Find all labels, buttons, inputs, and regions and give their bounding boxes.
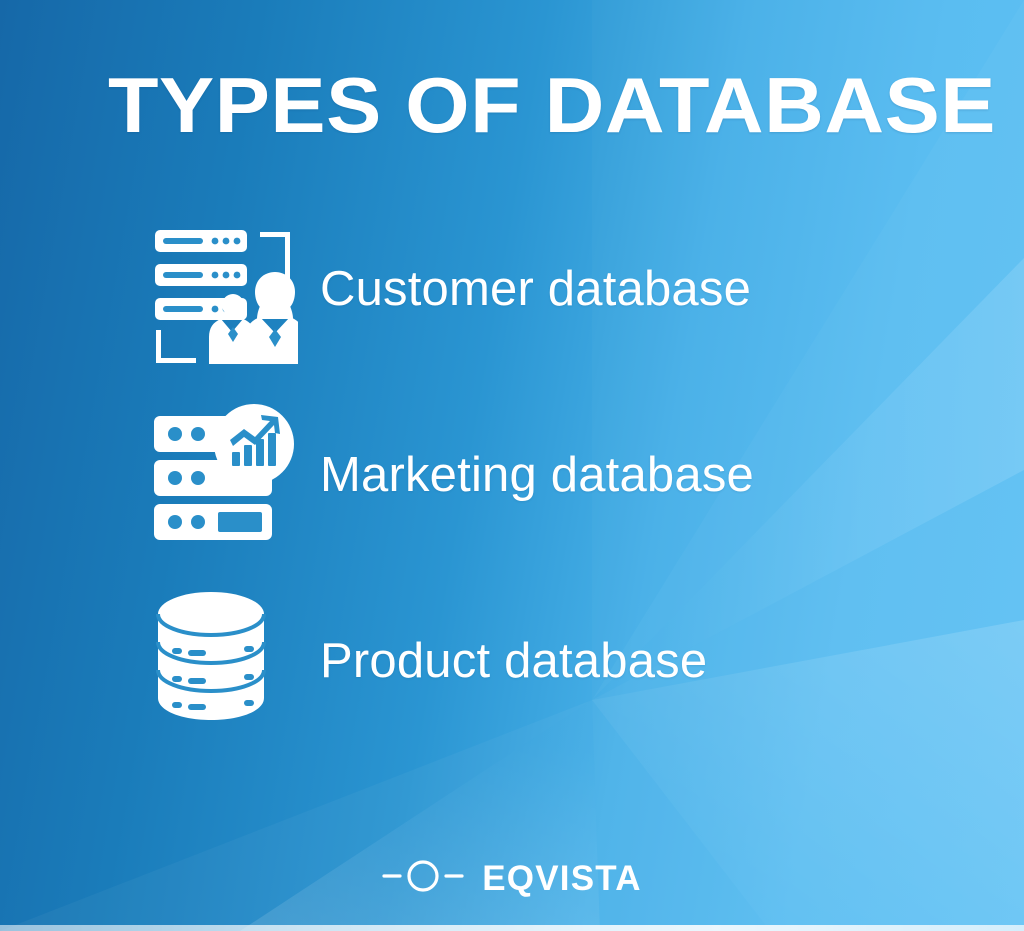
list-item[interactable]: Product database — [0, 568, 1024, 754]
list-item-label: Product database — [320, 633, 707, 689]
list-item-label: Marketing database — [320, 447, 754, 503]
dash-circle-dash-icon — [382, 858, 468, 899]
server-stack-with-growth-chart-icon — [148, 400, 308, 550]
infographic-canvas: TYPES OF DATABASE — [0, 0, 1024, 931]
list-item[interactable]: Customer database — [0, 196, 1024, 382]
server-racks-with-people-icon — [148, 214, 308, 364]
logo-wordmark: EQVISTA — [482, 859, 641, 899]
page-title: TYPES OF DATABASE — [108, 62, 1020, 148]
list-item[interactable]: Marketing database — [0, 382, 1024, 568]
database-type-list: Customer database — [0, 196, 1024, 754]
bottom-edge-strip — [0, 925, 1024, 931]
database-cylinder-icon — [148, 586, 308, 736]
list-item-label: Customer database — [320, 261, 751, 317]
eqvista-logo[interactable]: EQVISTA — [0, 858, 1024, 899]
